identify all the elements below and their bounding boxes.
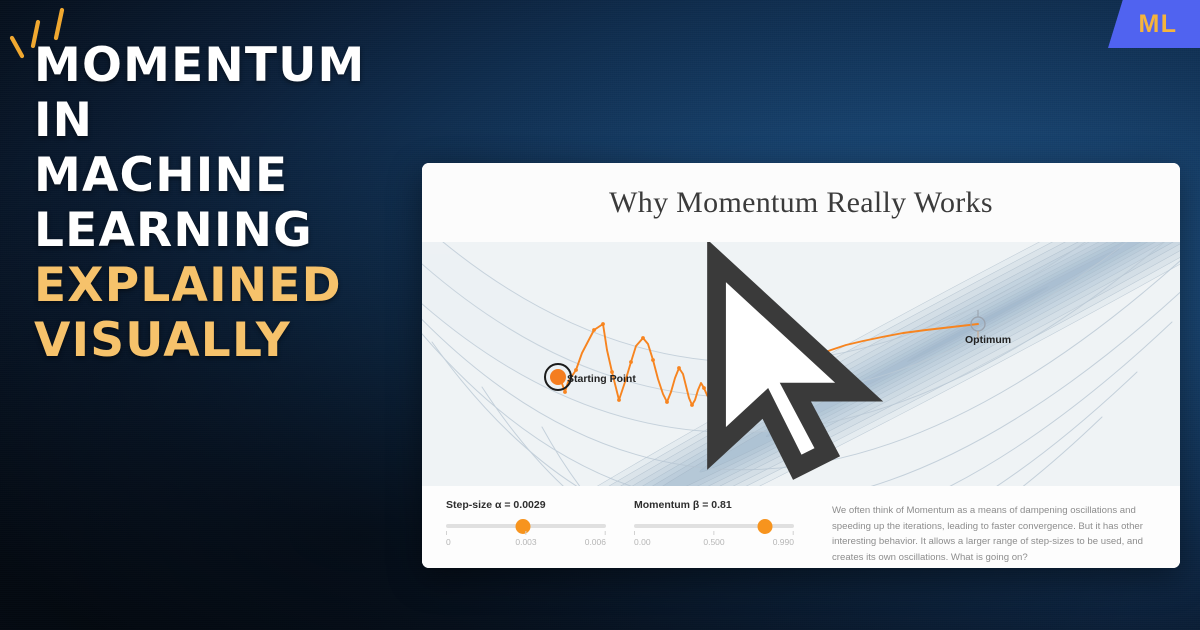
article-card: Why Momentum Really Works: [422, 163, 1180, 568]
step-size-tick-max: 0.006: [585, 531, 606, 547]
step-size-slider-track[interactable]: [446, 524, 606, 528]
card-title-text: Why Momentum Really Works: [609, 186, 993, 220]
headline-line-1: Momentum In: [34, 38, 434, 148]
headline-line-4: Explained: [34, 258, 434, 313]
headline-line-5: Visually: [34, 313, 434, 368]
description-text: We often think of Momentum as a means of…: [814, 499, 1180, 568]
step-size-tick-mid: 0.003: [515, 531, 536, 547]
momentum-tick-mid: 0.500: [703, 531, 724, 547]
mouse-cursor-icon: [422, 242, 1180, 486]
step-size-tick-min: 0: [446, 531, 451, 547]
step-size-ticks: 0 0.003 0.006: [446, 531, 606, 553]
momentum-tick-min: 0.00: [634, 531, 651, 547]
ml-badge: ML: [1108, 0, 1200, 48]
momentum-slider-block: Momentum β = 0.81 0.00 0.500 0.990: [618, 499, 814, 568]
ml-badge-label: ML: [1130, 10, 1177, 39]
headline-line-2: Machine: [34, 148, 434, 203]
momentum-label: Momentum β = 0.81: [634, 499, 814, 511]
page-title: Momentum In Machine Learning Explained V…: [34, 38, 434, 368]
headline-line-3: Learning: [34, 203, 434, 258]
sparkle-accent-icon: [4, 6, 80, 64]
momentum-tick-max: 0.990: [773, 531, 794, 547]
momentum-slider-track[interactable]: [634, 524, 794, 528]
controls-row: Step-size α = 0.0029 0 0.003 0.006 Momen…: [422, 486, 1180, 568]
contour-plot[interactable]: Starting Point Optimum: [422, 242, 1180, 486]
card-header: Why Momentum Really Works: [422, 163, 1180, 242]
step-size-label: Step-size α = 0.0029: [446, 499, 618, 511]
momentum-ticks: 0.00 0.500 0.990: [634, 531, 794, 553]
step-size-slider-block: Step-size α = 0.0029 0 0.003 0.006: [422, 499, 618, 568]
